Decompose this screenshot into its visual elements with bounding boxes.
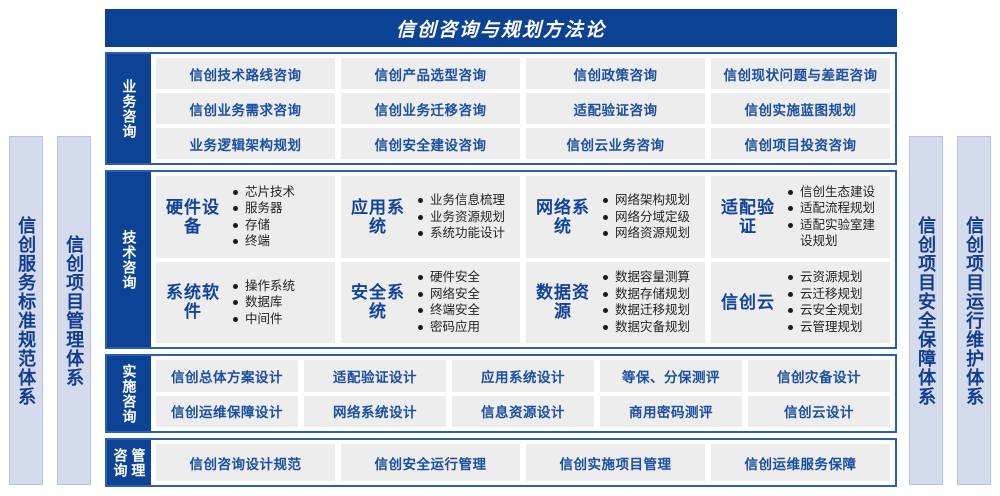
list-item: 适配实验室建设规划 — [787, 217, 884, 250]
band-label-text: 业务咨询 — [122, 79, 137, 139]
list-item[interactable]: 业务逻辑架构规划 — [156, 128, 335, 159]
list-item: 信创生态建设 — [787, 184, 884, 201]
tech-card-system-software[interactable]: 系统软件 操作系统 数据库 中间件 — [156, 262, 335, 344]
list-item: 数据迁移规划 — [602, 302, 699, 319]
list-item[interactable]: 信息资源设计 — [452, 396, 594, 428]
band-label-text-a: 咨询 — [113, 448, 128, 478]
tech-card-title: 系统软件 — [162, 283, 224, 321]
list-item: 数据容量测算 — [602, 269, 699, 286]
tech-card-data-resource[interactable]: 数据资源 数据容量测算 数据存储规划 数据迁移规划 数据灾备规划 — [526, 262, 705, 344]
pillar-project-management: 信创项目管理体系 — [57, 136, 91, 485]
list-item: 密码应用 — [417, 319, 514, 336]
tech-card-list: 信创生态建设 适配流程规划 适配实验室建设规划 — [787, 184, 884, 250]
list-item[interactable]: 应用系统设计 — [452, 360, 594, 392]
list-item: 云资源规划 — [787, 269, 884, 286]
table-row: 信创总体方案设计 适配验证设计 应用系统设计 等保、分保测评 信创灾备设计 — [156, 360, 890, 392]
pillar-project-security: 信创项目安全保障体系 — [909, 136, 943, 485]
tech-card-cloud[interactable]: 信创云 云资源规划 云迁移规划 云安全规划 云管理规划 — [711, 262, 890, 344]
band-body-implementation: 信创总体方案设计 适配验证设计 应用系统设计 等保、分保测评 信创灾备设计 信创… — [151, 356, 895, 431]
list-item[interactable]: 信创云业务咨询 — [526, 128, 705, 159]
table-row: 信创业务需求咨询 信创业务迁移咨询 适配验证咨询 信创实施蓝图规划 — [156, 93, 890, 124]
list-item: 终端 — [232, 233, 329, 250]
band-label-text-b: 管理 — [131, 448, 146, 478]
list-item: 硬件安全 — [417, 269, 514, 286]
list-item: 适配流程规划 — [787, 200, 884, 217]
table-row: 业务逻辑架构规划 信创安全建设咨询 信创云业务咨询 信创项目投资咨询 — [156, 128, 890, 159]
band-implementation-consulting: 实施咨询 信创总体方案设计 适配验证设计 应用系统设计 等保、分保测评 信创灾备… — [105, 354, 897, 433]
tech-card-hardware[interactable]: 硬件设备 芯片技术 服务器 存储 终端 — [156, 176, 335, 258]
tech-card-list: 网络架构规划 网络分域定级 网络资源规划 — [602, 192, 699, 242]
tech-card-title: 网络系统 — [532, 198, 594, 236]
table-row: 信创技术路线咨询 信创产品选型咨询 信创政策咨询 信创现状问题与差距咨询 — [156, 58, 890, 89]
band-label-technical: 技术咨询 — [107, 172, 151, 347]
list-item: 中间件 — [232, 311, 329, 328]
list-item[interactable]: 等保、分保测评 — [600, 360, 742, 392]
table-row: 系统软件 操作系统 数据库 中间件 安全系统 硬件安全 网络安全 终端安全 — [156, 262, 890, 344]
tech-card-adaptation[interactable]: 适配验证 信创生态建设 适配流程规划 适配实验室建设规划 — [711, 176, 890, 258]
tech-card-title: 应用系统 — [347, 198, 409, 236]
tech-card-title: 数据资源 — [532, 283, 594, 321]
list-item[interactable]: 信创安全建设咨询 — [341, 128, 520, 159]
band-body-business: 信创技术路线咨询 信创产品选型咨询 信创政策咨询 信创现状问题与差距咨询 信创业… — [151, 54, 895, 163]
band-label-business: 业务咨询 — [107, 54, 151, 163]
list-item: 数据灾备规划 — [602, 319, 699, 336]
list-item: 服务器 — [232, 200, 329, 217]
list-item[interactable]: 适配验证设计 — [304, 360, 446, 392]
table-row: 硬件设备 芯片技术 服务器 存储 终端 应用系统 业务信息梳理 业务资源规划 — [156, 176, 890, 258]
pillar-label: 信创服务标准规范体系 — [16, 216, 36, 406]
band-body-management: 信创咨询设计规范 信创安全运行管理 信创实施项目管理 信创运维服务保障 — [151, 440, 895, 485]
list-item: 系统功能设计 — [417, 225, 514, 242]
band-label-text: 实施咨询 — [122, 364, 137, 424]
tech-card-title: 硬件设备 — [162, 198, 224, 236]
band-business-consulting: 业务咨询 信创技术路线咨询 信创产品选型咨询 信创政策咨询 信创现状问题与差距咨… — [105, 52, 897, 165]
list-item: 芯片技术 — [232, 184, 329, 201]
list-item: 云管理规划 — [787, 319, 884, 336]
list-item[interactable]: 信创灾备设计 — [748, 360, 890, 392]
list-item[interactable]: 信创安全运行管理 — [341, 444, 520, 481]
pillar-service-standard: 信创服务标准规范体系 — [9, 136, 43, 485]
pillar-label: 信创项目运行维护体系 — [964, 216, 984, 406]
list-item[interactable]: 信创业务需求咨询 — [156, 93, 335, 124]
tech-card-list: 操作系统 数据库 中间件 — [232, 278, 329, 328]
list-item: 数据库 — [232, 294, 329, 311]
tech-card-title: 适配验证 — [717, 198, 779, 236]
list-item: 网络架构规划 — [602, 192, 699, 209]
pillar-project-operations: 信创项目运行维护体系 — [957, 136, 991, 485]
list-item: 操作系统 — [232, 278, 329, 295]
tech-card-security[interactable]: 安全系统 硬件安全 网络安全 终端安全 密码应用 — [341, 262, 520, 344]
diagram-root: 信创服务标准规范体系 信创项目管理体系 信创咨询与规划方法论 业务咨询 信创技术… — [0, 0, 1000, 496]
tech-card-list: 业务信息梳理 业务资源规划 系统功能设计 — [417, 192, 514, 242]
list-item: 业务信息梳理 — [417, 192, 514, 209]
list-item: 终端安全 — [417, 302, 514, 319]
tech-card-network[interactable]: 网络系统 网络架构规划 网络分域定级 网络资源规划 — [526, 176, 705, 258]
list-item[interactable]: 信创业务迁移咨询 — [341, 93, 520, 124]
pillar-label: 信创项目管理体系 — [64, 235, 84, 387]
list-item[interactable]: 信创产品选型咨询 — [341, 58, 520, 89]
table-row: 信创运维保障设计 网络系统设计 信息资源设计 商用密码测评 信创云设计 — [156, 396, 890, 428]
tech-card-title: 信创云 — [717, 293, 779, 312]
list-item[interactable]: 信创实施项目管理 — [526, 444, 705, 481]
list-item[interactable]: 信创运维服务保障 — [711, 444, 890, 481]
list-item[interactable]: 网络系统设计 — [304, 396, 446, 428]
list-item: 网络资源规划 — [602, 225, 699, 242]
band-technical-consulting: 技术咨询 硬件设备 芯片技术 服务器 存储 终端 应用系统 — [105, 170, 897, 349]
tech-card-list: 云资源规划 云迁移规划 云安全规划 云管理规划 — [787, 269, 884, 335]
band-label-management: 咨询 管理 — [107, 440, 151, 485]
table-row: 信创咨询设计规范 信创安全运行管理 信创实施项目管理 信创运维服务保障 — [156, 444, 890, 481]
list-item[interactable]: 信创云设计 — [748, 396, 890, 428]
list-item[interactable]: 信创现状问题与差距咨询 — [711, 58, 890, 89]
tech-card-application[interactable]: 应用系统 业务信息梳理 业务资源规划 系统功能设计 — [341, 176, 520, 258]
band-body-technical: 硬件设备 芯片技术 服务器 存储 终端 应用系统 业务信息梳理 业务资源规划 — [151, 172, 895, 347]
list-item[interactable]: 商用密码测评 — [600, 396, 742, 428]
band-label-text: 技术咨询 — [122, 230, 137, 290]
tech-card-title: 安全系统 — [347, 283, 409, 321]
list-item[interactable]: 信创实施蓝图规划 — [711, 93, 890, 124]
list-item[interactable]: 信创运维保障设计 — [156, 396, 298, 428]
list-item: 网络安全 — [417, 286, 514, 303]
page-title: 信创咨询与规划方法论 — [105, 9, 897, 47]
list-item: 云安全规划 — [787, 302, 884, 319]
band-consulting-management: 咨询 管理 信创咨询设计规范 信创安全运行管理 信创实施项目管理 信创运维服务保… — [105, 438, 897, 487]
list-item[interactable]: 信创项目投资咨询 — [711, 128, 890, 159]
list-item: 数据存储规划 — [602, 286, 699, 303]
list-item: 云迁移规划 — [787, 286, 884, 303]
list-item[interactable]: 适配验证咨询 — [526, 93, 705, 124]
tech-card-list: 数据容量测算 数据存储规划 数据迁移规划 数据灾备规划 — [602, 269, 699, 335]
list-item: 业务资源规划 — [417, 209, 514, 226]
list-item: 存储 — [232, 217, 329, 234]
list-item[interactable]: 信创政策咨询 — [526, 58, 705, 89]
list-item[interactable]: 信创技术路线咨询 — [156, 58, 335, 89]
band-label-implementation: 实施咨询 — [107, 356, 151, 431]
tech-card-list: 硬件安全 网络安全 终端安全 密码应用 — [417, 269, 514, 335]
center-stack: 信创咨询与规划方法论 业务咨询 信创技术路线咨询 信创产品选型咨询 信创政策咨询… — [105, 9, 897, 487]
pillar-label: 信创项目安全保障体系 — [916, 216, 936, 406]
list-item[interactable]: 信创总体方案设计 — [156, 360, 298, 392]
list-item: 网络分域定级 — [602, 209, 699, 226]
tech-card-list: 芯片技术 服务器 存储 终端 — [232, 184, 329, 250]
list-item[interactable]: 信创咨询设计规范 — [156, 444, 335, 481]
